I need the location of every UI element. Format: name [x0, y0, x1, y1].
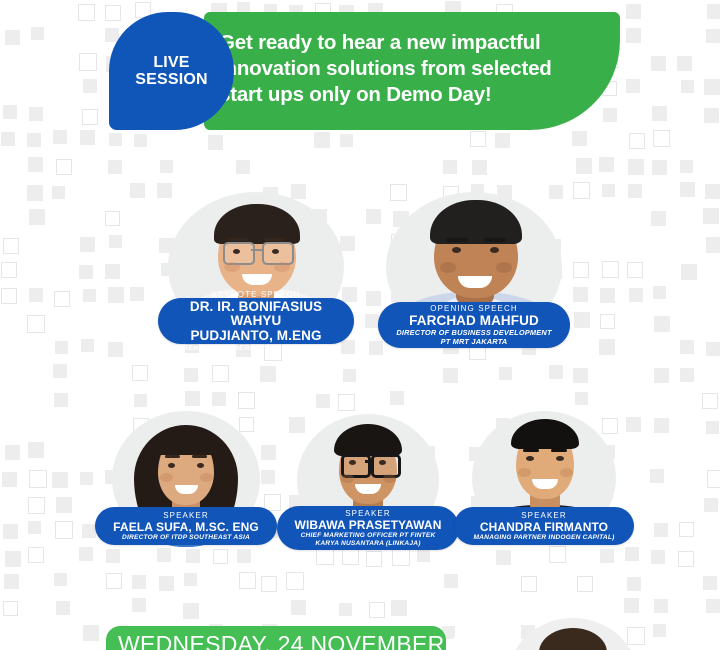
speaker-title-wibawa-line-2: KARYA NUSANTARA (LINKAJA) — [315, 540, 420, 548]
speaker-name-wibawa: WIBAWA PRASETYAWAN — [295, 519, 442, 532]
event-poster: Get ready to hear a new impactful innova… — [0, 0, 720, 650]
speaker-title-farchad-line-1: DIRECTOR OF BUSINESS DEVELOPMENT — [396, 328, 551, 337]
speaker-title-bonifasius: DIREKTUR PEMBERDAYAAN INFORMATIKA — [175, 343, 337, 352]
speaker-title-wibawa-line-1: CHIEF MARKETING OFFICER PT FINTEK — [301, 532, 436, 540]
speaker-role-faela: SPEAKER — [163, 511, 209, 521]
speaker-nameplate-faela: SPEAKER FAELA SUFA, M.SC. ENG DIRECTOR O… — [95, 507, 277, 545]
speaker-name-bonifasius-line-2: PUDJIANTO, M.ENG — [190, 329, 321, 344]
live-label: LIVE — [153, 54, 189, 71]
speaker-card-chandra: SPEAKER CHANDRA FIRMANTO MANAGING PARTNE… — [472, 411, 616, 545]
speaker-role-chandra: SPEAKER — [521, 511, 567, 521]
speaker-nameplate-bonifasius: KEYNOTE SPEECH DR. IR. BONIFASIUS WAHYU … — [158, 298, 354, 344]
banner-headline-line-1: Get ready to hear a new impactful — [219, 30, 619, 56]
speaker-card-wibawa: SPEAKER WIBAWA PRASETYAWAN CHIEF MARKETI… — [297, 414, 439, 546]
speaker-card-bonifasius: KEYNOTE SPEECH DR. IR. BONIFASIUS WAHYU … — [168, 192, 344, 342]
speaker-name-bonifasius-line-1: DR. IR. BONIFASIUS WAHYU — [164, 300, 348, 329]
speaker-role-wibawa: SPEAKER — [345, 509, 391, 519]
speaker-nameplate-chandra: SPEAKER CHANDRA FIRMANTO MANAGING PARTNE… — [454, 507, 634, 545]
speaker-nameplate-wibawa: SPEAKER WIBAWA PRASETYAWAN CHIEF MARKETI… — [277, 506, 459, 550]
live-session-banner: Get ready to hear a new impactful innova… — [109, 12, 620, 130]
speaker-card-farchad: OPENING SPEECH FARCHAD MAHFUD DIRECTOR O… — [386, 192, 562, 342]
speaker-nameplate-farchad: OPENING SPEECH FARCHAD MAHFUD DIRECTOR O… — [378, 302, 570, 348]
banner-headline: Get ready to hear a new impactful innova… — [219, 30, 619, 108]
speaker-title-chandra: MANAGING PARTNER INDOGEN CAPITAL) — [473, 534, 614, 542]
session-label: SESSION — [135, 71, 208, 88]
speaker-photo-partial-bottom-right — [508, 618, 638, 650]
speaker-name-chandra: CHANDRA FIRMANTO — [480, 521, 608, 534]
speaker-name-faela: FAELA SUFA, M.SC. ENG — [113, 521, 259, 534]
event-date-text: WEDNESDAY, 24 NOVEMBER 2021 — [118, 631, 448, 650]
speaker-title-faela: DIRECTOR OF ITDP SOUTHEAST ASIA — [122, 534, 250, 542]
speaker-title-farchad-line-2: PT MRT JAKARTA — [441, 337, 508, 346]
speaker-name-farchad: FARCHAD MAHFUD — [409, 314, 539, 329]
speaker-card-faela: SPEAKER FAELA SUFA, M.SC. ENG DIRECTOR O… — [112, 411, 260, 547]
live-session-badge-label: LIVE SESSION — [109, 12, 234, 130]
banner-headline-line-3: start ups only on Demo Day! — [219, 82, 619, 108]
banner-headline-line-2: innovation solutions from selected — [219, 56, 619, 82]
